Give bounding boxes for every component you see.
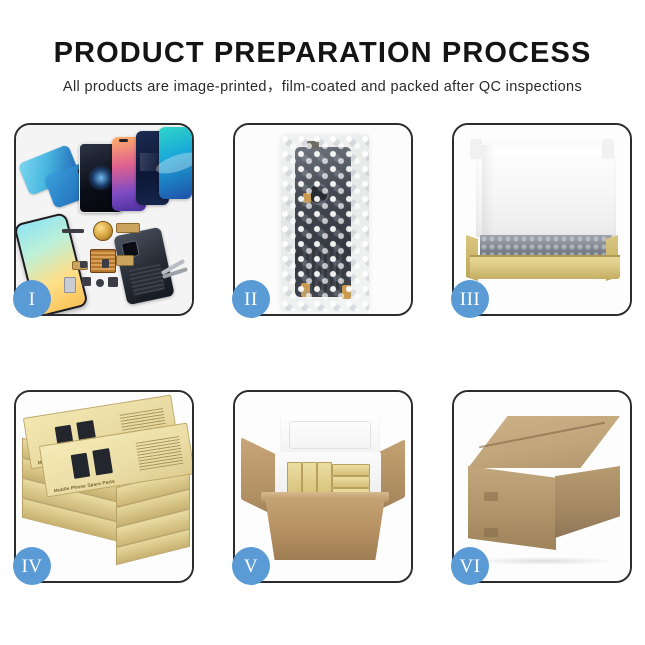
foam-tab-right bbox=[602, 139, 614, 159]
process-step-panel-1[interactable]: I bbox=[14, 123, 194, 316]
process-step-panel-3[interactable]: III bbox=[452, 123, 632, 316]
small-part-4 bbox=[80, 261, 87, 268]
flex-cable-3 bbox=[116, 255, 134, 266]
sim-tray bbox=[64, 277, 76, 293]
small-part-2 bbox=[96, 279, 104, 287]
spare-part-bar bbox=[62, 229, 84, 233]
phone-back-housing bbox=[113, 227, 175, 305]
flex-cable-1 bbox=[116, 223, 140, 233]
small-part-1 bbox=[82, 277, 91, 286]
carton-shadow bbox=[472, 557, 616, 565]
bubble-highlight-texture bbox=[281, 135, 369, 311]
process-step-panel-5[interactable]: V bbox=[233, 390, 413, 583]
carton-body bbox=[265, 498, 385, 560]
white-foam-insert bbox=[476, 141, 616, 237]
foam-tab-left bbox=[470, 139, 482, 159]
step-badge-4: IV bbox=[13, 547, 51, 585]
step-badge-3: III bbox=[451, 280, 489, 318]
product-preparation-infographic: PRODUCT PREPARATION PROCESS All products… bbox=[0, 0, 645, 645]
carton-handle-tab-top bbox=[484, 492, 498, 501]
foam-box-lid bbox=[281, 414, 379, 456]
step-badge-5: V bbox=[232, 547, 270, 585]
carton-side-face bbox=[555, 466, 620, 538]
bubble-wrap-bag bbox=[281, 135, 369, 311]
yellow-box-front bbox=[470, 257, 620, 279]
inner-yellow-box-4 bbox=[332, 464, 370, 476]
carton-front-face bbox=[468, 466, 556, 550]
inner-yellow-box-5 bbox=[332, 476, 370, 488]
box-art-screen-4 bbox=[92, 448, 113, 475]
process-step-panel-6[interactable]: VI bbox=[452, 390, 632, 583]
process-step-panel-2[interactable]: II bbox=[233, 123, 413, 316]
process-step-grid: I II bbox=[0, 0, 645, 645]
vibration-motor-part bbox=[93, 221, 113, 241]
small-part-3 bbox=[108, 277, 118, 287]
carton-handle-tab-bottom bbox=[484, 528, 498, 537]
step-badge-1: I bbox=[13, 280, 51, 318]
small-part-5 bbox=[102, 259, 109, 268]
foam-box-open bbox=[275, 414, 381, 502]
step-badge-6: VI bbox=[451, 547, 489, 585]
phone-teal-wave bbox=[159, 127, 192, 199]
step-badge-2: II bbox=[232, 280, 270, 318]
process-step-panel-4[interactable]: Mobile Phone Spare Parts Mobile Phone Sp… bbox=[14, 390, 194, 583]
